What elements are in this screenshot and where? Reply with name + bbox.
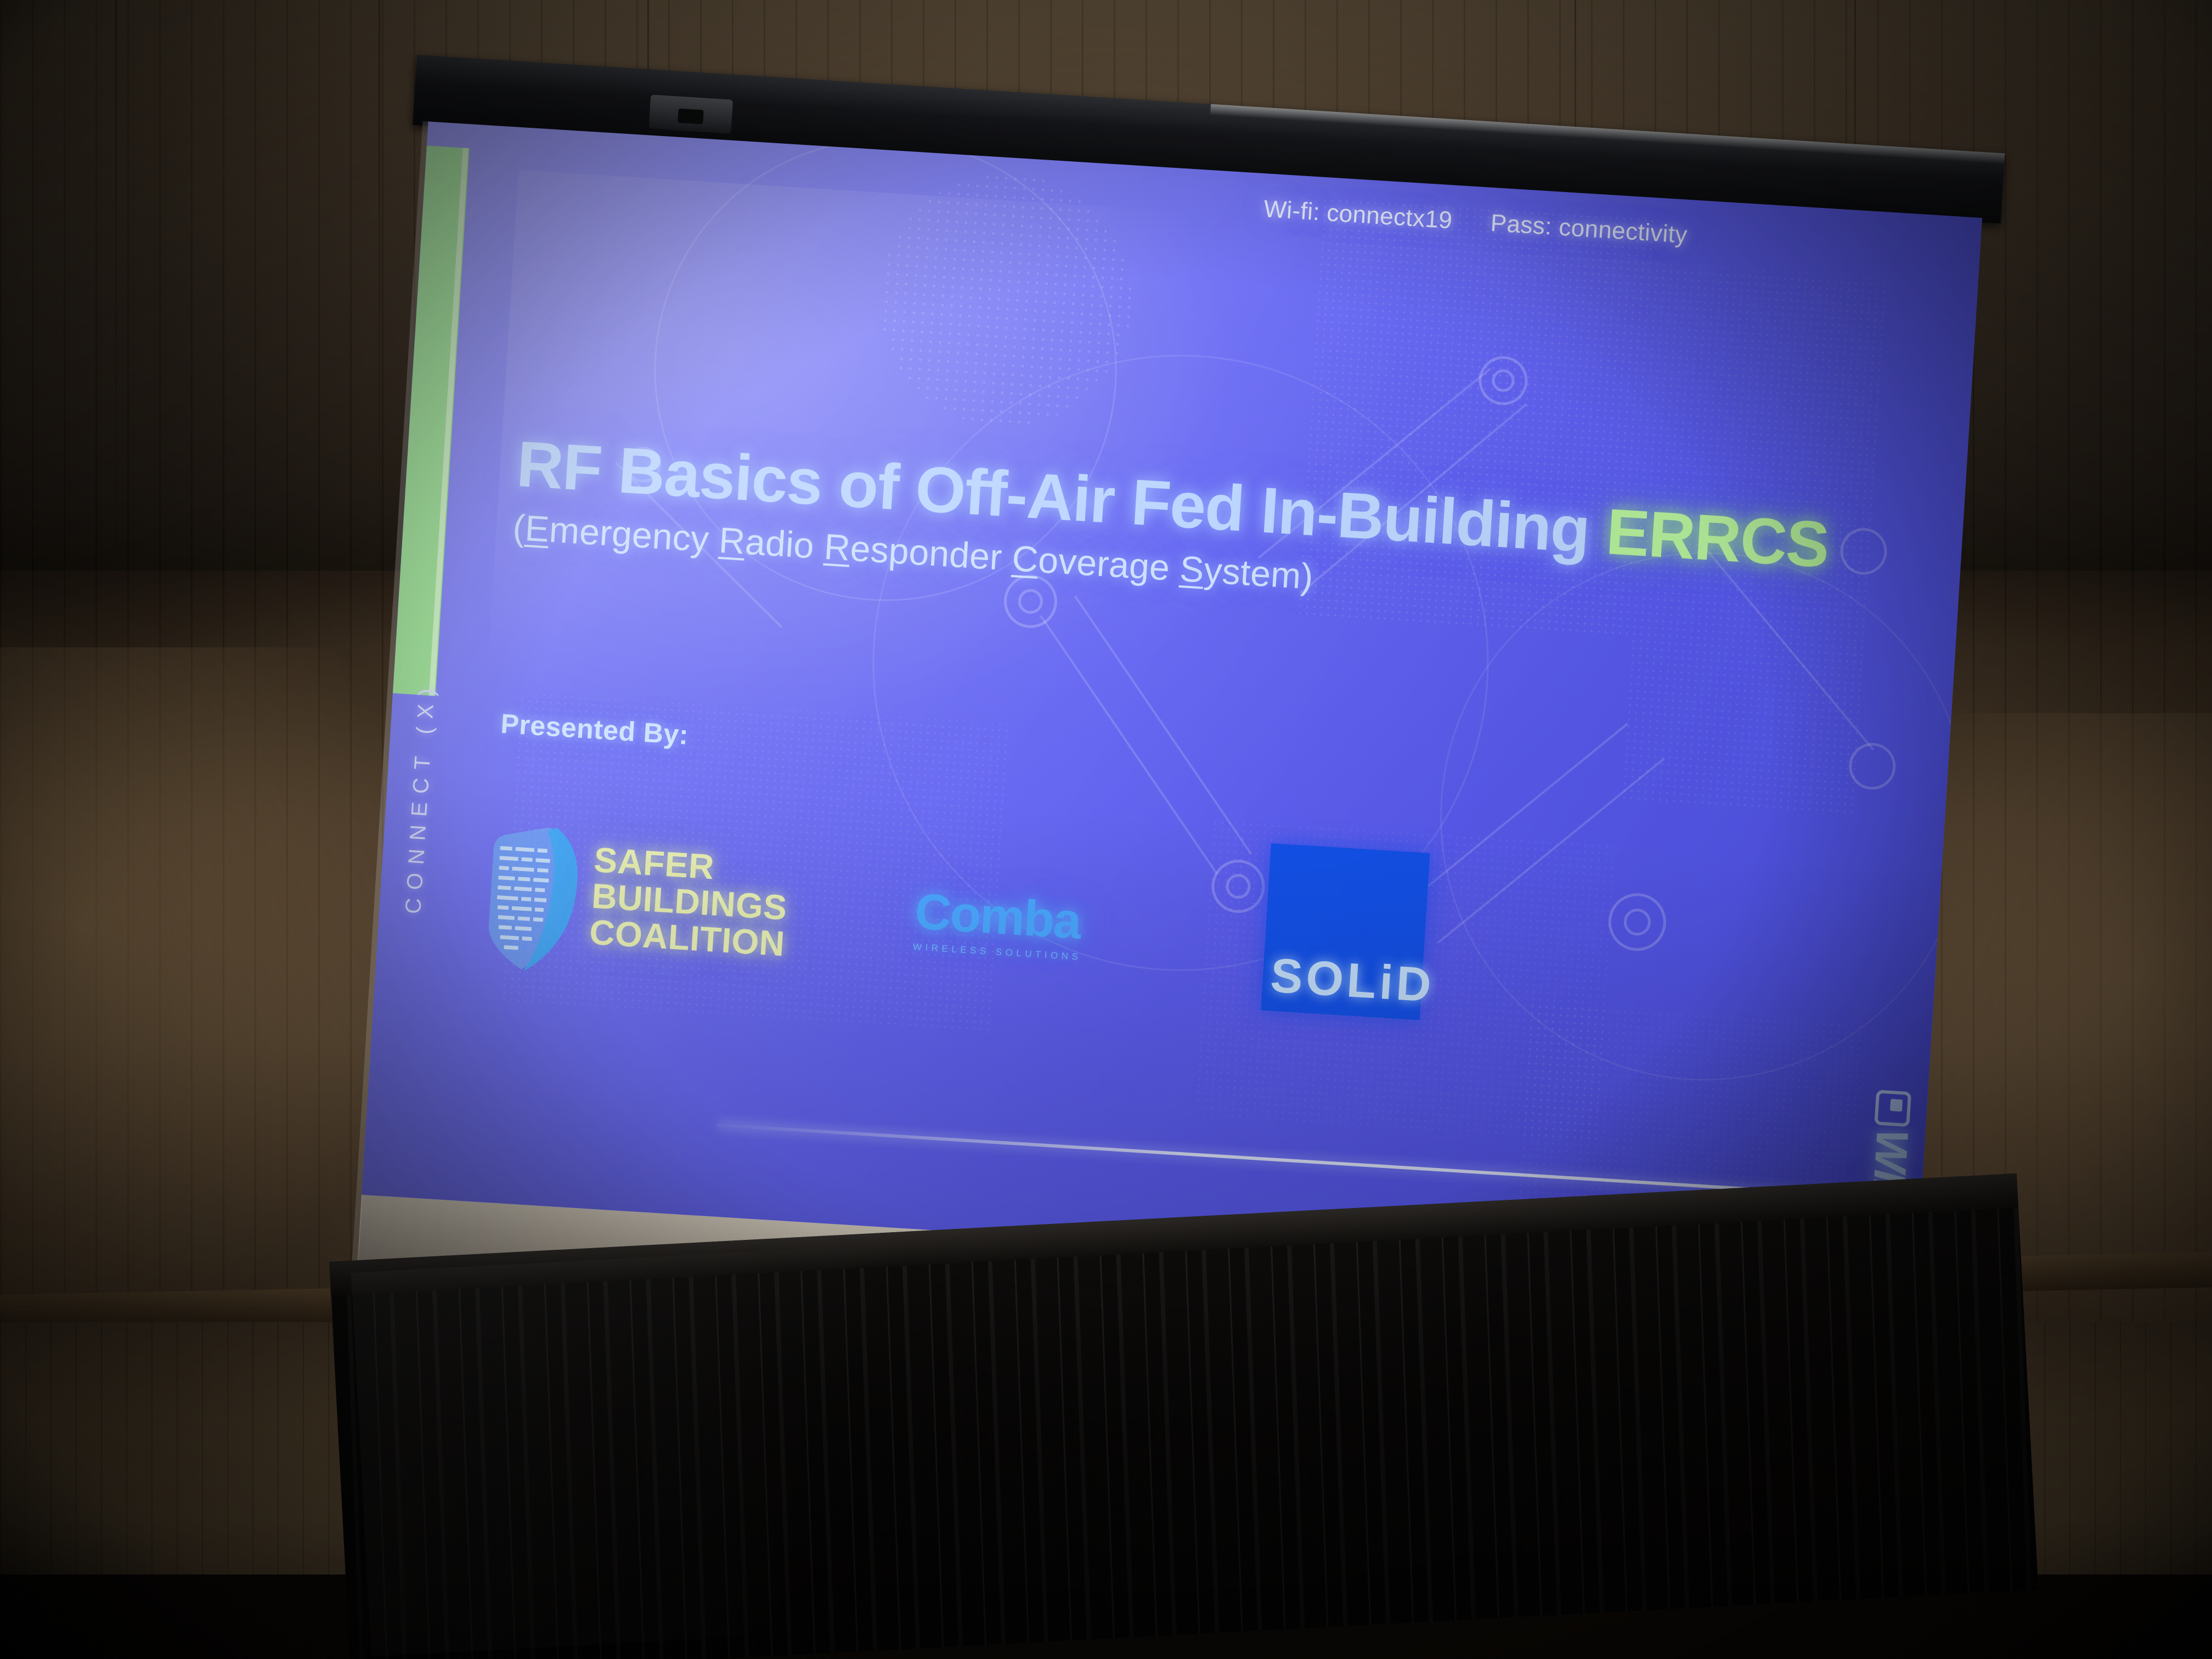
room-photo: CONNECT (X) WHERE INFRASTRUCTURE MEETS E… <box>0 0 2212 1659</box>
room-vignette <box>0 0 2212 1659</box>
